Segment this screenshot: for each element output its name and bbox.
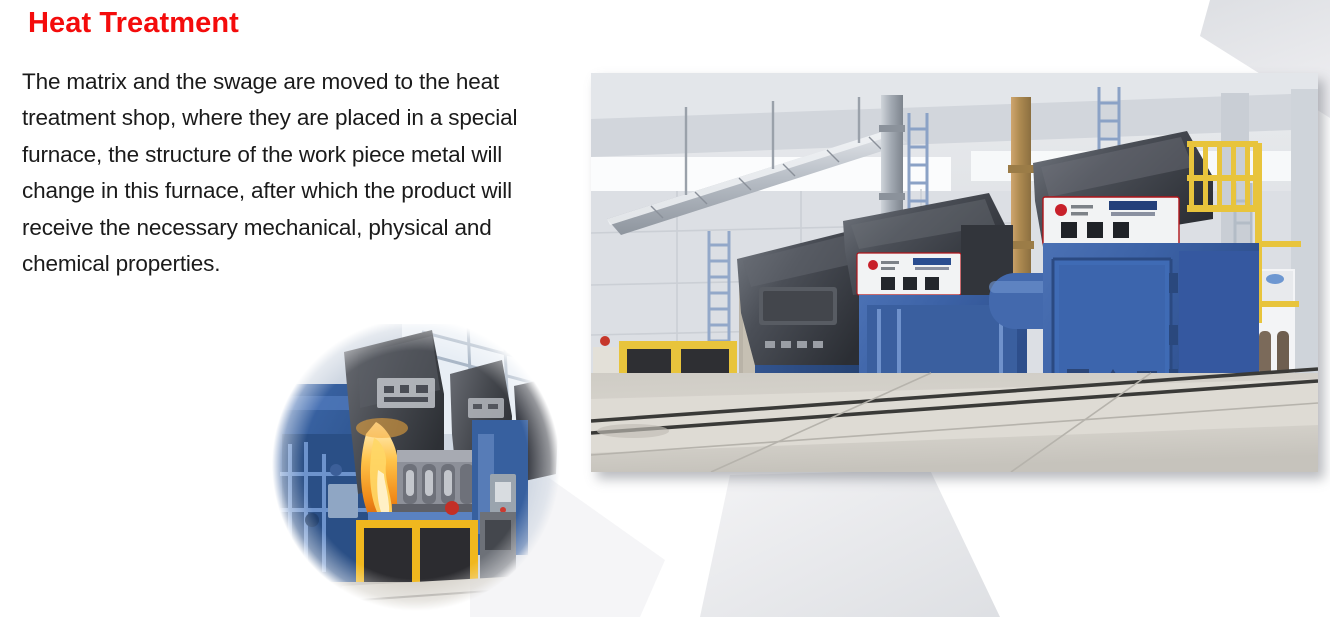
floor-stain	[597, 424, 669, 438]
page-title: Heat Treatment	[28, 8, 567, 40]
heat-treatment-workshop-photo	[591, 73, 1318, 472]
left-red-light	[600, 336, 610, 346]
control-box-left	[328, 484, 358, 518]
sign-chinese-text-right	[1061, 222, 1129, 238]
furnace-flame-photo	[272, 324, 560, 617]
exit-sign	[1266, 274, 1284, 284]
railing-rail-lower	[1255, 241, 1301, 247]
furnace-right-hinges	[1169, 273, 1178, 389]
chimney-stack-brown	[1011, 97, 1031, 297]
sign-brand-kenter	[913, 258, 951, 270]
sign-logo-mark	[868, 260, 878, 270]
body-paragraph: The matrix and the swage are moved to th…	[22, 64, 567, 283]
sign-brand-kenter-right	[1109, 201, 1157, 216]
sign-logo-mark-right	[1055, 204, 1067, 216]
sign-right-furnace	[1043, 197, 1179, 245]
gray-polygon-bottom-center	[700, 470, 1000, 617]
text-column: Heat Treatment The matrix and the swage …	[22, 8, 567, 283]
wall-column-right-2	[1291, 89, 1318, 379]
sign-middle-furnace	[857, 253, 961, 295]
red-handwheel	[445, 501, 459, 515]
railing-rail-lowest	[1255, 301, 1299, 307]
sign-chinese-text	[881, 277, 939, 290]
